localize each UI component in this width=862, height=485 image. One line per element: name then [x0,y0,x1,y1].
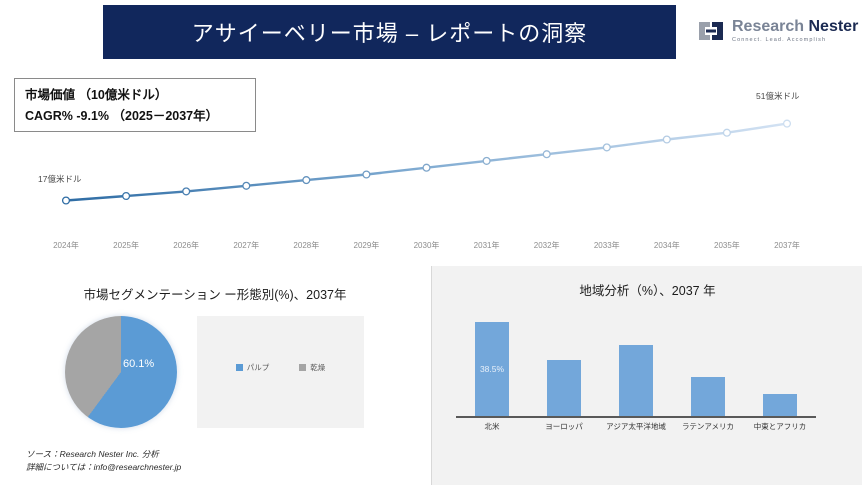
report-infographic-page: アサイーベリー市場 – レポートの洞察 Research Nester Conn… [0,0,862,485]
bar [691,377,725,416]
logo-name-first: Research [732,18,804,35]
x-axis-tick-label: 2035年 [714,240,740,251]
logo-name: Research Nester [732,19,858,35]
bar-category-label: ラテンアメリカ [682,421,734,432]
legend-item[interactable]: パルプ [236,362,270,373]
bar-column[interactable] [619,345,653,416]
line-marker [63,197,70,204]
line-marker [123,193,130,200]
pie-legend-box: パルプ乾燥 [197,316,364,428]
logo-name-second: Nester [809,18,859,35]
x-axis-tick-label: 2028年 [293,240,319,251]
line-marker [724,129,731,136]
x-axis-tick-label: 2025年 [113,240,139,251]
pie-graphic [65,316,177,428]
bar-category-label: 中東とアフリカ [754,421,807,432]
bar-column[interactable] [763,394,797,416]
line-series-path [66,124,787,201]
bar-column[interactable]: 38.5% [475,322,509,416]
legend-item[interactable]: 乾燥 [299,362,325,373]
x-axis-tick-label: 2034年 [654,240,680,251]
line-marker [363,171,370,178]
legend-swatch [236,364,243,371]
source-note: ソース：Research Nester Inc. 分析 詳細については：info… [26,448,181,474]
bar-category-label: 北米 [485,421,500,432]
line-marker [663,136,670,143]
research-nester-logo: Research Nester Connect. Lead. Accomplis… [697,14,857,48]
bar-category-label: アジア太平洋地域 [606,421,666,432]
x-axis-tick-label: 2027年 [233,240,259,251]
regional-bars: 38.5% [456,311,841,416]
line-chart-x-axis: 2024年2025年2026年2027年2028年2029年2030年2031年… [0,240,862,258]
line-marker [303,177,310,184]
bar-category-label: ヨーロッパ [545,421,583,432]
logo-tagline: Connect. Lead. Accomplish [732,38,858,44]
line-marker [483,158,490,165]
x-axis-tick-label: 2033年 [594,240,620,251]
bar [547,360,581,416]
pie-legend: パルプ乾燥 [197,362,364,373]
line-marker [603,144,610,151]
line-end-value-label: 51億米ドル [756,90,799,102]
segmentation-pie-chart: 60.1% [65,316,177,428]
bar [619,345,653,416]
line-marker [543,151,550,158]
x-axis-tick-label: 2032年 [534,240,560,251]
source-line-1: ソース：Research Nester Inc. 分析 [26,448,181,461]
line-marker [183,188,190,195]
legend-label: 乾燥 [310,362,325,373]
line-marker [423,164,430,171]
chain-link-logo-icon [697,19,725,43]
x-axis-tick-label: 2024年 [53,240,79,251]
legend-swatch [299,364,306,371]
page-title: アサイーベリー市場 – レポートの洞察 [192,16,587,48]
x-axis-tick-label: 2026年 [173,240,199,251]
x-axis-tick-label: 2030年 [414,240,440,251]
segmentation-title: 市場セグメンテーション ー形態別(%)、2037年 [0,284,430,303]
source-line-2: 詳細については：info@researchnester.jp [26,461,181,474]
header-banner: アサイーベリー市場 – レポートの洞察 [103,5,676,59]
x-axis-tick-label: 2029年 [354,240,380,251]
pie-data-label: 60.1% [123,358,154,370]
line-marker [784,120,791,127]
regional-analysis-panel: 地域分析（%）、2037 年 38.5% 北米ヨーロッパアジア太平洋地域ラテンア… [431,266,862,485]
bar-column[interactable] [691,377,725,416]
bar-data-label: 38.5% [480,364,504,374]
legend-label: パルプ [247,362,270,373]
market-value-line-chart: 17億米ドル 51億米ドル [0,60,862,260]
bar-chart-baseline [456,416,816,418]
x-axis-tick-label: 2031年 [474,240,500,251]
line-start-value-label: 17億米ドル [38,173,81,185]
line-marker [243,182,250,189]
bar-chart-x-axis: 北米ヨーロッパアジア太平洋地域ラテンアメリカ中東とアフリカ [456,421,841,437]
x-axis-tick-label: 2037年 [774,240,800,251]
bar-column[interactable] [547,360,581,416]
regional-analysis-title: 地域分析（%）、2037 年 [432,280,862,299]
logo-text: Research Nester Connect. Lead. Accomplis… [732,19,858,44]
bar [763,394,797,416]
